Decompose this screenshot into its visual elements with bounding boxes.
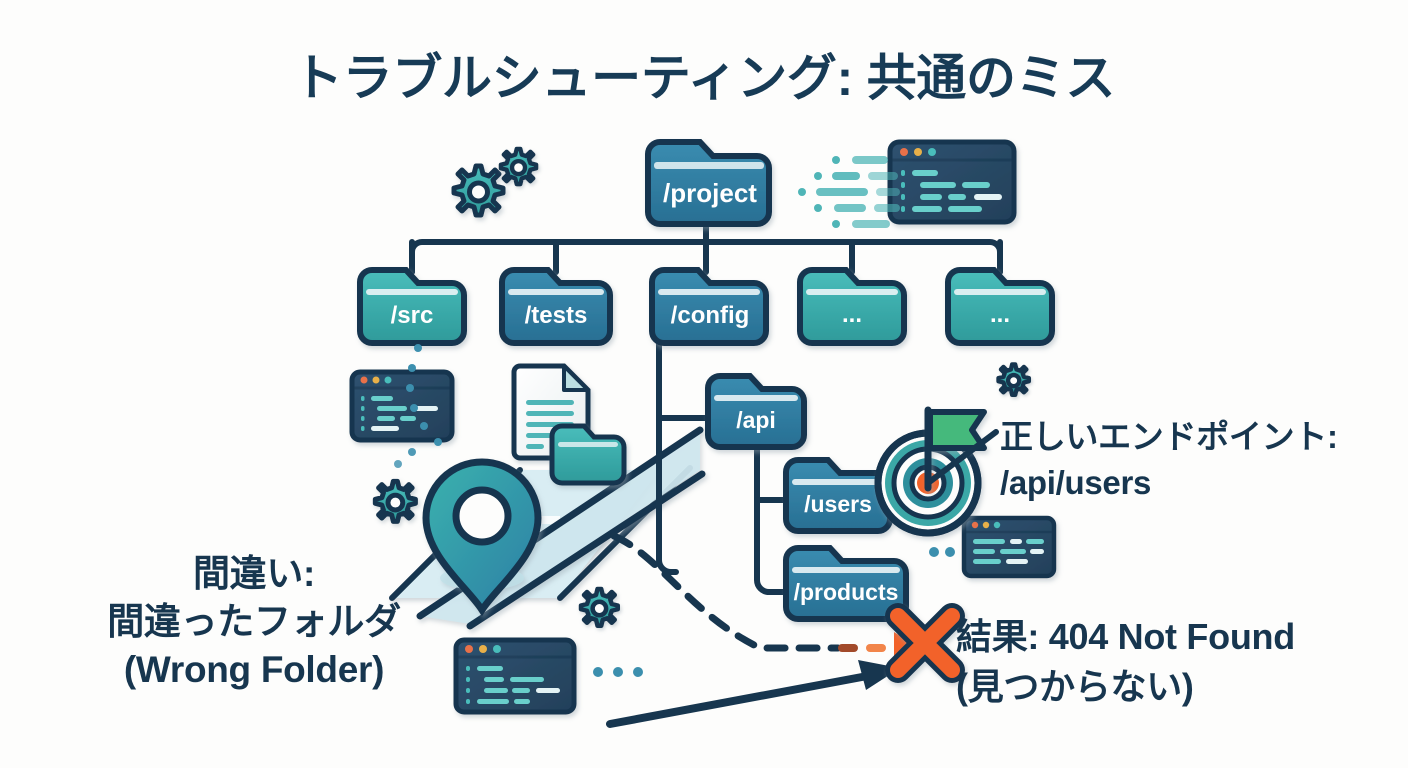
folder-config: /config <box>652 270 766 343</box>
result-line2: (見つからない) <box>956 662 1376 712</box>
gear-icon-1 <box>454 166 503 215</box>
gear-icon-2 <box>501 149 536 184</box>
svg-text:/products: /products <box>794 579 899 605</box>
code-window-icon-left <box>352 372 452 440</box>
wrong-folder-label: 間違い: 間違ったフォルダ (Wrong Folder) <box>74 550 434 694</box>
dots-icon-right <box>929 547 955 557</box>
svg-text:/config: /config <box>671 302 750 329</box>
gear-icon-5 <box>998 364 1028 394</box>
result-label: 結果: 404 Not Found (見つからない) <box>956 612 1376 712</box>
svg-text:...: ... <box>842 301 862 328</box>
correct-endpoint-line2: /api/users <box>1000 460 1400 506</box>
code-window-icon-top <box>890 142 1014 222</box>
correct-endpoint-line1: 正しいエンドポイント: <box>1000 414 1400 460</box>
folder-ellipsis-2: ... <box>948 270 1052 343</box>
dots-icon-bottom <box>593 667 643 677</box>
folder-project: /project <box>648 142 769 224</box>
code-window-icon-bottom <box>456 640 574 712</box>
page-title: トラブルシューティング: 共通のミス <box>0 38 1408 110</box>
speed-lines-icon <box>798 156 900 228</box>
correct-endpoint-label: 正しいエンドポイント: /api/users <box>1000 414 1400 506</box>
folder-users: /users <box>786 460 890 531</box>
folder-src: /src <box>360 270 464 343</box>
result-line1: 結果: 404 Not Found <box>956 612 1376 662</box>
svg-text:...: ... <box>990 301 1010 328</box>
wrong-folder-line1: 間違い: <box>74 550 434 598</box>
code-window-icon-right <box>964 518 1054 576</box>
wrong-folder-line2: 間違ったフォルダ <box>74 598 434 646</box>
folder-tests: /tests <box>502 270 610 343</box>
svg-text:/users: /users <box>804 491 872 517</box>
svg-text:/api: /api <box>736 407 776 433</box>
folder-api: /api <box>708 376 804 447</box>
svg-text:/src: /src <box>391 302 434 329</box>
gear-icon-4 <box>581 589 618 626</box>
svg-text:/project: /project <box>663 178 757 208</box>
gear-icon-3 <box>375 481 415 521</box>
diagram-canvas: /project /src /tests /config ... <box>0 0 1408 768</box>
folder-ellipsis-1: ... <box>800 270 904 343</box>
svg-text:/tests: /tests <box>525 302 588 329</box>
solid-arrow-line <box>610 674 878 724</box>
folder-icon-small <box>552 426 624 483</box>
wrong-folder-line3: (Wrong Folder) <box>74 646 434 694</box>
